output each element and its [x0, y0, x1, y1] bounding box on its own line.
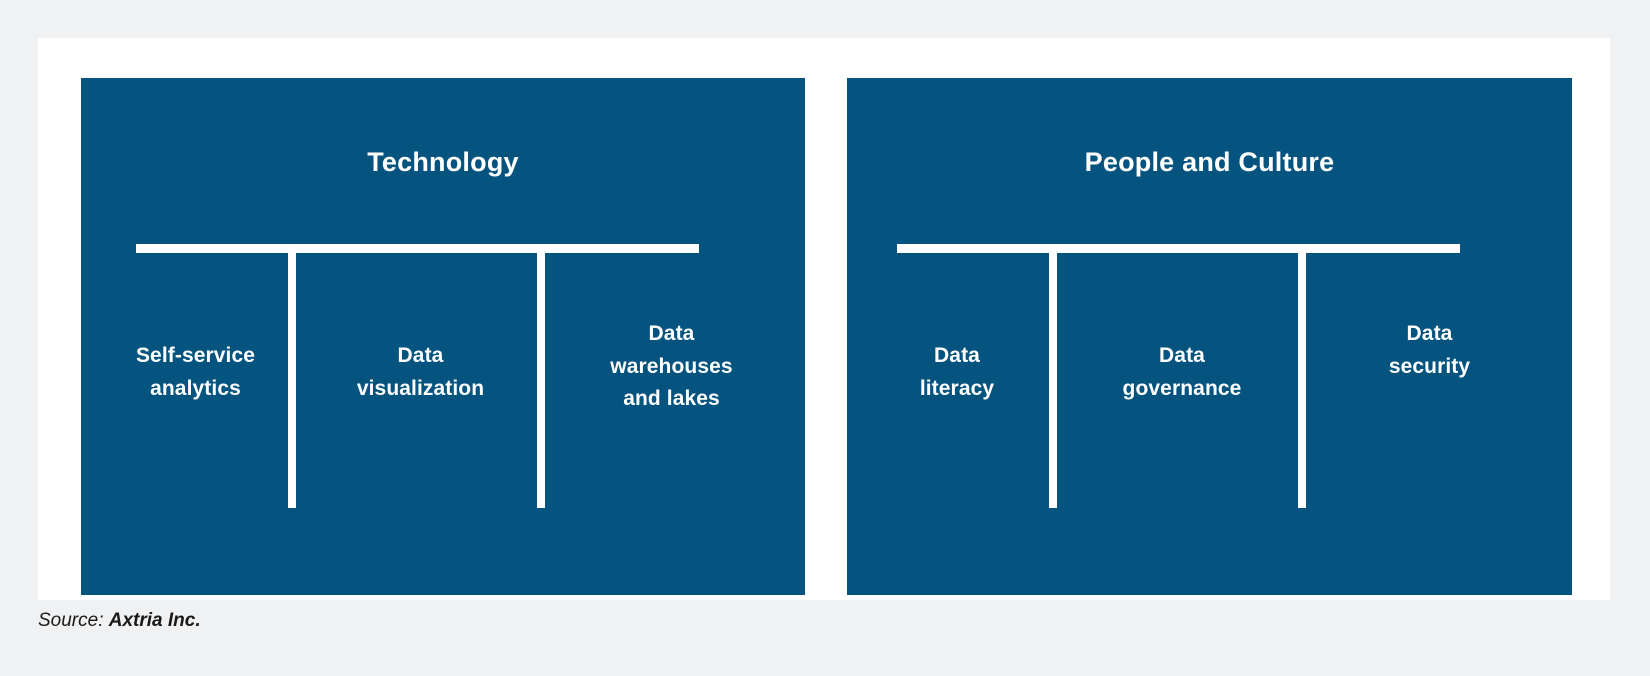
diagram-card: Technology Self-service analytics Data v…: [38, 38, 1610, 600]
label-line: Data: [559, 318, 784, 351]
tbar-horizontal-rule: [897, 244, 1460, 253]
source-label: Source:: [38, 610, 103, 631]
tbar-horizontal-rule: [136, 244, 699, 253]
label-line: warehouses: [559, 351, 784, 384]
label-line: security: [1317, 351, 1542, 384]
label-line: Self-service: [103, 340, 288, 373]
column-label-data-visualization: Data visualization: [303, 318, 538, 405]
label-line: Data: [303, 340, 538, 373]
panel-people-and-culture: People and Culture Data literacy Data go…: [847, 78, 1572, 595]
column-label-self-service-analytics: Self-service analytics: [103, 318, 288, 405]
source-note: Source: Axtria Inc.: [38, 610, 201, 632]
panel-technology: Technology Self-service analytics Data v…: [81, 78, 805, 595]
columns-people-and-culture: Data literacy Data governance Data secur…: [847, 318, 1572, 508]
columns-technology: Self-service analytics Data visualizatio…: [81, 318, 805, 508]
source-name: Axtria Inc.: [109, 610, 201, 631]
label-line: analytics: [103, 373, 288, 406]
label-line: literacy: [867, 373, 1047, 406]
diagram-stage: Technology Self-service analytics Data v…: [0, 0, 1650, 676]
column-label-data-governance: Data governance: [1062, 318, 1302, 405]
label-line: Data: [867, 340, 1047, 373]
label-line: and lakes: [559, 383, 784, 416]
column-label-data-security: Data security: [1317, 318, 1542, 383]
column-label-data-warehouses-and-lakes: Data warehouses and lakes: [559, 318, 784, 416]
label-line: Data: [1062, 340, 1302, 373]
label-line: visualization: [303, 373, 538, 406]
panels-container: Technology Self-service analytics Data v…: [38, 38, 1610, 600]
panel-title-people-and-culture: People and Culture: [847, 148, 1572, 178]
column-label-data-literacy: Data literacy: [867, 318, 1047, 405]
panel-title-technology: Technology: [81, 148, 805, 178]
label-line: Data: [1317, 318, 1542, 351]
label-line: governance: [1062, 373, 1302, 406]
